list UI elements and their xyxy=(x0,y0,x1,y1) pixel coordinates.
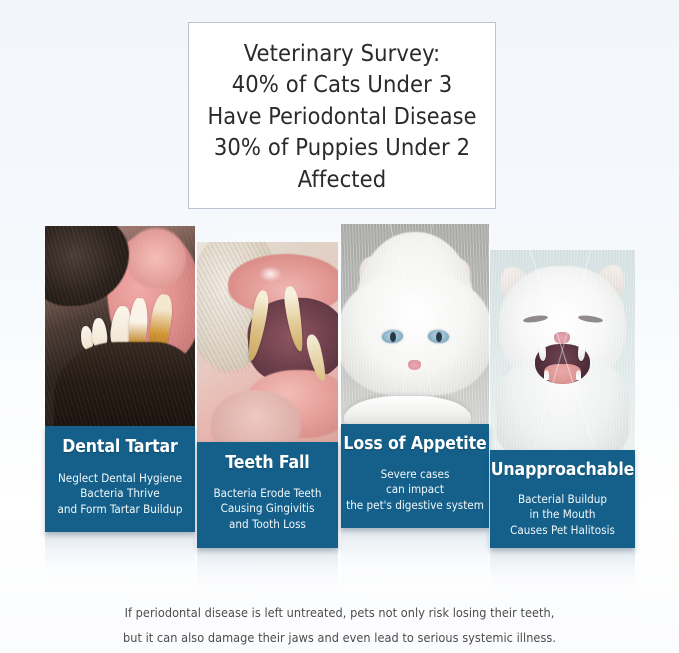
panel-body-line: Bacteria Thrive xyxy=(57,486,182,501)
dog-teeth-tartar-photo xyxy=(45,226,195,426)
panel-body-line: and Form Tartar Buildup xyxy=(57,502,182,517)
symptom-panel-dental-tartar[interactable]: Dental Tartar Neglect Dental Hygiene Bac… xyxy=(45,226,195,532)
panel-title-2: Loss of Appetite xyxy=(343,434,486,454)
cat-gingivitis-mouth-photo xyxy=(197,242,338,442)
symptom-panels: Dental Tartar Neglect Dental Hygiene Bac… xyxy=(0,0,679,600)
footer-line-1: If periodontal disease is left untreated… xyxy=(0,600,679,625)
panel-body-line: Causing Gingivitis xyxy=(214,501,322,516)
panel-body-line: and Tooth Loss xyxy=(214,517,322,532)
panel-body-2: Severe cases can impact the pet's digest… xyxy=(346,467,484,513)
panel-title-3: Unapproachable xyxy=(491,460,634,480)
panel-body-line: Bacteria Erode Teeth xyxy=(214,486,322,501)
panel-body-line: Bacterial Buildup xyxy=(510,492,615,507)
symptom-panel-loss-of-appetite[interactable]: Loss of Appetite Severe cases can impact… xyxy=(341,224,489,528)
panel-title-1: Teeth Fall xyxy=(225,453,309,473)
panel-body-line: can impact xyxy=(346,482,484,497)
panel-caption-1: Teeth Fall Bacteria Erode Teeth Causing … xyxy=(197,442,338,548)
panel-body-line: in the Mouth xyxy=(510,507,615,522)
hissing-white-cat-photo xyxy=(490,250,635,450)
footer-line-2: but it can also damage their jaws and ev… xyxy=(0,625,679,650)
panel-body-line: Causes Pet Halitosis xyxy=(510,523,615,538)
panel-body-1: Bacteria Erode Teeth Causing Gingivitis … xyxy=(214,486,322,532)
panel-caption-3: Unapproachable Bacterial Buildup in the … xyxy=(490,450,635,548)
symptom-panel-unapproachable[interactable]: Unapproachable Bacterial Buildup in the … xyxy=(490,250,635,548)
panel-title-0: Dental Tartar xyxy=(62,437,177,457)
panel-body-line: Neglect Dental Hygiene xyxy=(57,471,182,486)
symptom-panel-teeth-fall[interactable]: Teeth Fall Bacteria Erode Teeth Causing … xyxy=(197,242,338,548)
panel-caption-2: Loss of Appetite Severe cases can impact… xyxy=(341,424,489,528)
panel-body-0: Neglect Dental Hygiene Bacteria Thrive a… xyxy=(57,471,182,517)
panel-body-3: Bacterial Buildup in the Mouth Causes Pe… xyxy=(510,492,615,538)
panel-body-line: the pet's digestive system xyxy=(346,498,484,513)
footer-note: If periodontal disease is left untreated… xyxy=(0,600,679,650)
panel-caption-0: Dental Tartar Neglect Dental Hygiene Bac… xyxy=(45,426,195,532)
white-cat-at-food-bowl-photo xyxy=(341,224,489,424)
panel-body-line: Severe cases xyxy=(346,467,484,482)
